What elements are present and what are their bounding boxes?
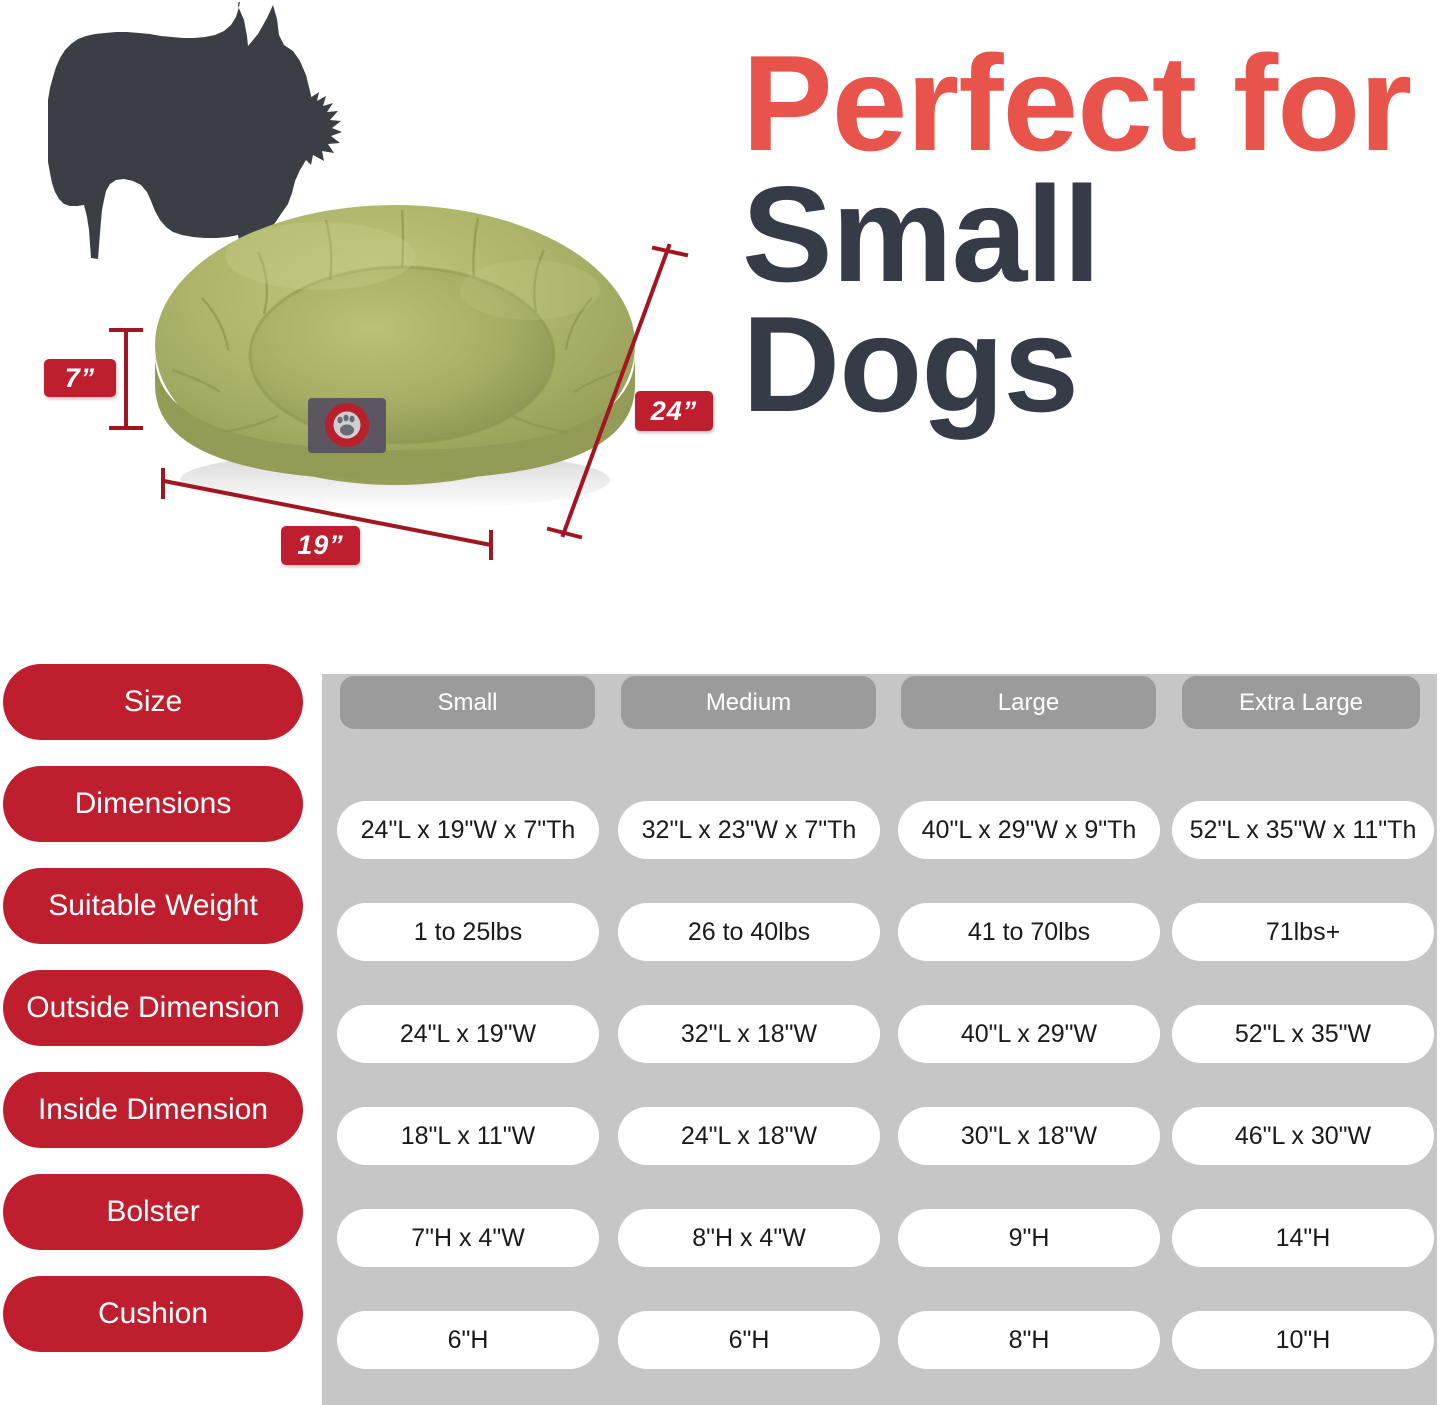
table-cell: 1 to 25lbs <box>337 903 599 961</box>
table-cell: 52"L x 35"W x 11"Th <box>1172 801 1434 859</box>
headline-line-2: Small <box>742 169 1442 300</box>
table-row-label-column: Size Dimensions Suitable Weight Outside … <box>0 660 310 1405</box>
table-cell: 8"H <box>898 1311 1160 1369</box>
table-cell: 7"H x 4"W <box>337 1209 599 1267</box>
headline-line-1: Perfect for <box>742 38 1442 169</box>
table-cell: 41 to 70lbs <box>898 903 1160 961</box>
table-cell: 6"H <box>337 1311 599 1369</box>
table-cell: 10"H <box>1172 1311 1434 1369</box>
dog-bed-product-image <box>130 180 660 520</box>
row-label-outside-dimension: Outside Dimension <box>3 970 303 1046</box>
column-header-small: Small <box>340 676 595 729</box>
table-cell: 46"L x 30"W <box>1172 1107 1434 1165</box>
specification-table: Size Dimensions Suitable Weight Outside … <box>0 660 1445 1405</box>
page-title: Perfect for Small Dogs <box>742 38 1442 430</box>
table-cell: 14"H <box>1172 1209 1434 1267</box>
table-cell: 30"L x 18"W <box>898 1107 1160 1165</box>
table-cell: 24"L x 19"W x 7"Th <box>337 801 599 859</box>
table-cell: 40"L x 29"W <box>898 1005 1160 1063</box>
row-label-suitable-weight: Suitable Weight <box>3 868 303 944</box>
measurement-label-height: 7” <box>44 359 116 397</box>
column-header-medium: Medium <box>621 676 876 729</box>
table-cell: 32"L x 18"W <box>618 1005 880 1063</box>
table-cell: 8"H x 4"W <box>618 1209 880 1267</box>
row-label-bolster: Bolster <box>3 1174 303 1250</box>
table-cell: 40"L x 29"W x 9"Th <box>898 801 1160 859</box>
headline-line-3: Dogs <box>742 299 1442 430</box>
infographic-root: 7” 24” 19” Perfect for Small Dogs Size D… <box>0 0 1445 1405</box>
table-cell: 71lbs+ <box>1172 903 1434 961</box>
table-cell: 26 to 40lbs <box>618 903 880 961</box>
brand-tag <box>308 398 386 453</box>
hero-section: 7” 24” 19” Perfect for Small Dogs <box>0 0 1445 660</box>
table-cell: 24"L x 18"W <box>618 1107 880 1165</box>
table-cell: 32"L x 23"W x 7"Th <box>618 801 880 859</box>
table-cell: 24"L x 19"W <box>337 1005 599 1063</box>
column-header-large: Large <box>901 676 1156 729</box>
row-label-dimensions: Dimensions <box>3 766 303 842</box>
row-label-cushion: Cushion <box>3 1276 303 1352</box>
measurement-label-width: 19” <box>281 526 360 565</box>
row-label-size: Size <box>3 664 303 740</box>
row-label-inside-dimension: Inside Dimension <box>3 1072 303 1148</box>
column-header-extra-large: Extra Large <box>1182 676 1420 729</box>
table-cell: 6"H <box>618 1311 880 1369</box>
measurement-label-length: 24” <box>635 391 713 431</box>
table-cell: 52"L x 35"W <box>1172 1005 1434 1063</box>
table-cell: 18"L x 11"W <box>337 1107 599 1165</box>
table-cell: 9"H <box>898 1209 1160 1267</box>
